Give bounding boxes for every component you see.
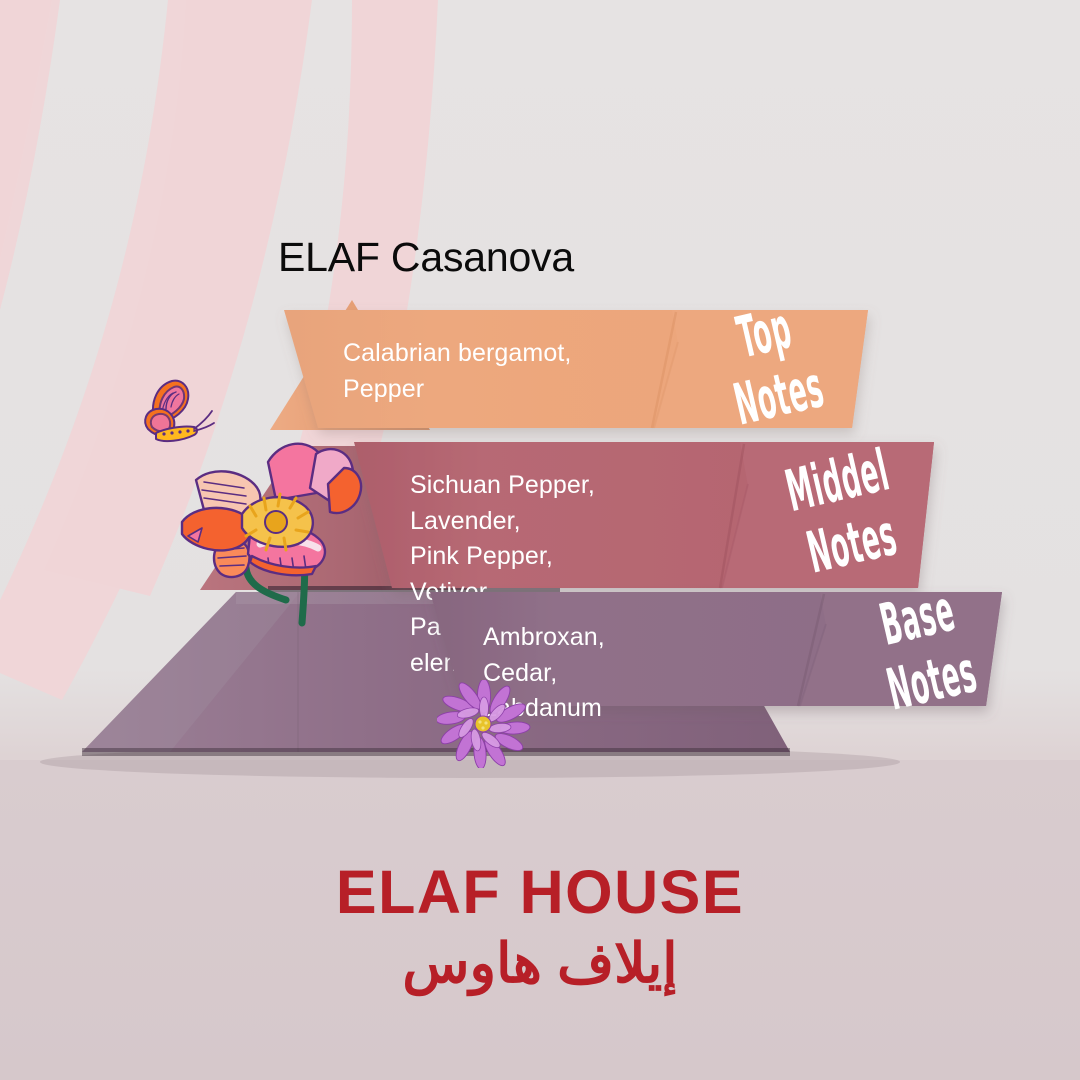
brand-block: ELAF HOUSE إيلاف هاوس [0, 862, 1080, 995]
brand-name-arabic: إيلاف هاوس [0, 932, 1080, 995]
brand-name-latin: ELAF HOUSE [0, 862, 1080, 923]
page-title: ELAF Casanova [278, 234, 574, 281]
poppy-flower-icon [176, 418, 391, 628]
infographic-canvas: ELAF Casanova [0, 0, 1080, 1080]
aster-flower-icon [437, 680, 532, 768]
